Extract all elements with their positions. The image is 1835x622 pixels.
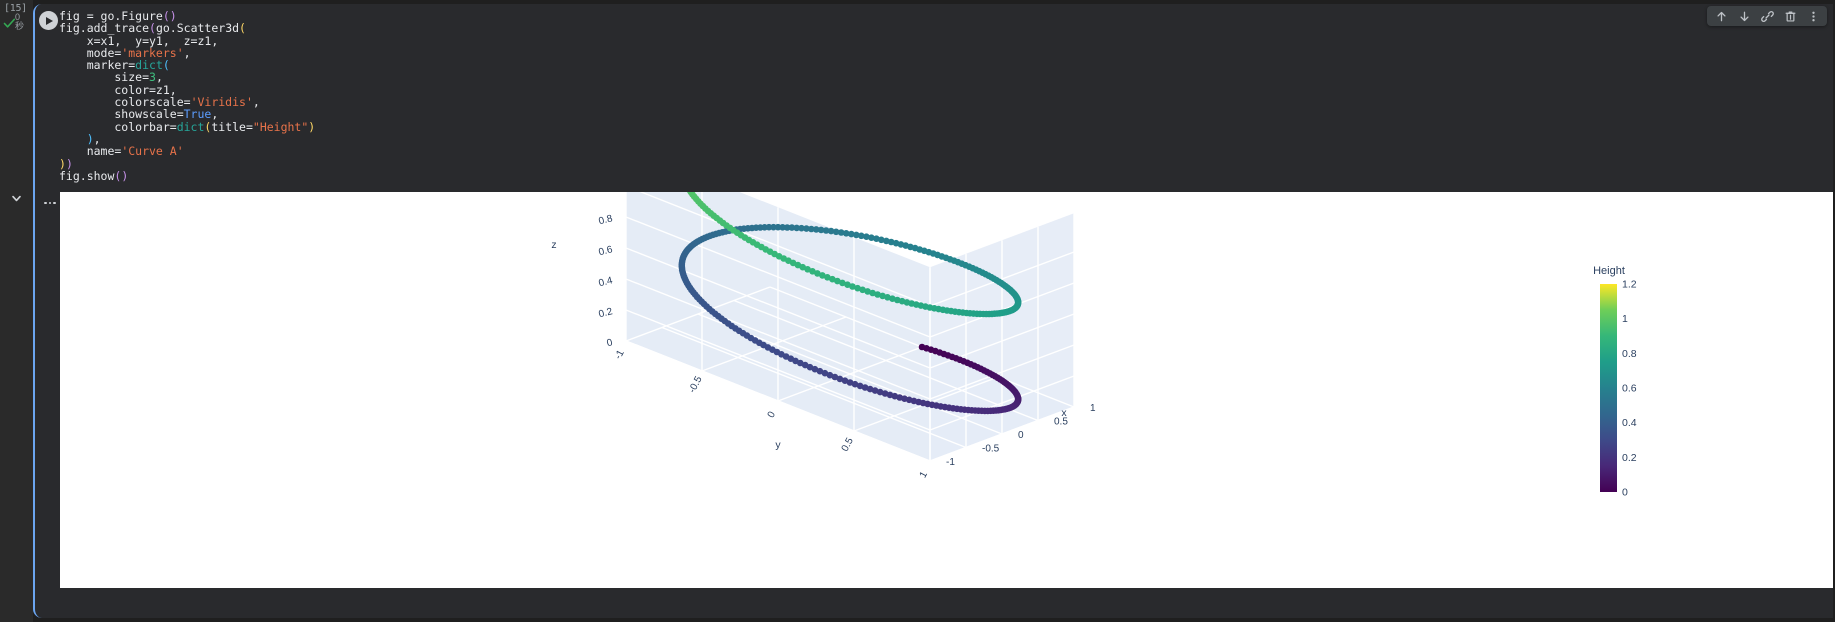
y-axis-tick-label: 1: [918, 469, 931, 479]
delete-cell-button[interactable]: [1779, 7, 1801, 25]
code-token: ,: [253, 95, 260, 109]
cell-output: 00.20.40.60.81z-1-0.500.51y-1-0.500.51xH…: [60, 192, 1833, 588]
colorbar-tick-label: 0: [1622, 487, 1628, 499]
code-token: (: [163, 58, 170, 72]
move-cell-down-button[interactable]: [1733, 7, 1755, 25]
ellipsis-dot: [53, 202, 56, 205]
run-cell-button[interactable]: [39, 11, 58, 30]
colorbar-tick-label: 0.8: [1622, 348, 1637, 360]
code-token: (): [114, 169, 128, 183]
runtime-unit: 秒: [15, 22, 24, 31]
plotly-figure[interactable]: 00.20.40.60.81z-1-0.500.51y-1-0.500.51xH…: [60, 192, 1833, 588]
colorbar-gradient[interactable]: [1600, 284, 1617, 492]
x-axis-tick-label: -0.5: [982, 444, 1000, 455]
z-axis-tick-label: 0.4: [598, 275, 615, 289]
y-axis-tick-label: 0: [766, 409, 779, 419]
source-code[interactable]: fig = go.Figure() fig.add_trace(go.Scatt…: [59, 10, 315, 182]
code-token: "Height": [253, 120, 308, 134]
y-axis-tick-label: -1: [613, 348, 627, 361]
runtime-readout: 0 秒: [15, 13, 24, 31]
colorbar-tick-label: 0.6: [1622, 383, 1637, 395]
z-axis-tick-label: 0.8: [598, 213, 615, 227]
z-axis-title: z: [551, 239, 556, 251]
x-axis-tick-label: 1: [1090, 403, 1096, 414]
colorbar-tick-label: 0.2: [1622, 452, 1637, 464]
code-token: fig.show: [59, 169, 114, 183]
x-axis-title: x: [1061, 407, 1067, 419]
more-options-button[interactable]: [1802, 7, 1824, 25]
ellipsis-dot: [49, 202, 52, 205]
code-token: ,: [184, 46, 191, 60]
z-axis-tick-label: 0.2: [598, 306, 615, 320]
code-token: (: [239, 21, 246, 35]
data-point: [982, 408, 989, 415]
colorbar-tick-label: 0.4: [1622, 417, 1637, 429]
y-axis-title: y: [775, 439, 781, 451]
colorbar-title: Height: [1593, 265, 1625, 277]
y-axis-tick-label: -0.5: [687, 374, 705, 395]
ellipsis-dot: [44, 202, 47, 205]
code-editor[interactable]: fig = go.Figure() fig.add_trace(go.Scatt…: [35, 4, 1833, 191]
chevron-down-icon[interactable]: [8, 190, 25, 207]
colorbar-tick-label: 1: [1622, 313, 1628, 325]
scatter3d-plot[interactable]: 00.20.40.60.81z-1-0.500.51y-1-0.500.51xH…: [60, 192, 1833, 588]
colorbar-tick-label: 1.2: [1622, 279, 1637, 291]
cell-toolbar[interactable]: [1707, 6, 1827, 26]
y-axis-tick-label: 0.5: [840, 436, 856, 454]
z-axis-tick-label: 0: [606, 337, 614, 349]
data-point: [983, 311, 990, 318]
code-token: ): [308, 120, 315, 134]
output-options-button[interactable]: [40, 196, 60, 210]
code-token: title=: [211, 120, 253, 134]
x-axis-tick-label: 0: [1018, 430, 1024, 441]
play-icon: [46, 17, 53, 25]
z-axis-tick-label: 0.6: [598, 244, 615, 258]
link-to-cell-button[interactable]: [1756, 7, 1778, 25]
code-token: 'Curve A': [121, 144, 183, 158]
notebook-cell-screen: [15] 0 秒 fig = go.Figure() fig.add_trace…: [0, 0, 1835, 622]
code-token: dict: [177, 120, 205, 134]
x-axis-tick-label: -1: [946, 457, 955, 468]
cell-gutter: [15] 0 秒: [0, 0, 33, 622]
code-cell[interactable]: fig = go.Figure() fig.add_trace(go.Scatt…: [33, 4, 1833, 618]
move-cell-up-button[interactable]: [1710, 7, 1732, 25]
z-axis-tick-label: 1: [606, 192, 614, 194]
